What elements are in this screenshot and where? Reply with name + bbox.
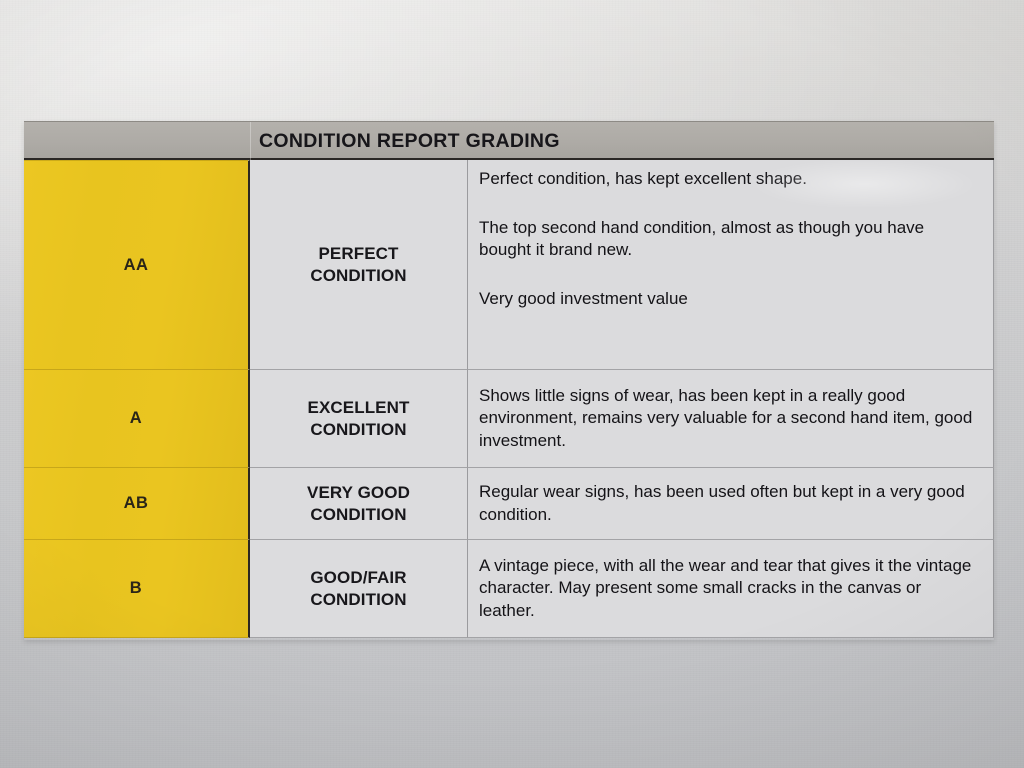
table-row: AB VERY GOOD CONDITION Regular wear sign… xyxy=(24,468,994,540)
condition-cell: VERY GOOD CONDITION xyxy=(250,468,468,540)
description-cell: Regular wear signs, has been used often … xyxy=(468,468,994,540)
description-cell: Perfect condition, has kept excellent sh… xyxy=(468,160,994,370)
grade-cell: AB xyxy=(24,468,250,540)
grade-label: AB xyxy=(124,494,149,513)
grade-label: B xyxy=(130,579,142,598)
description-paragraph: Shows little signs of wear, has been kep… xyxy=(479,385,979,453)
condition-label-line1: PERFECT xyxy=(318,244,398,263)
condition-label-line2: CONDITION xyxy=(310,266,406,285)
condition-label-line1: VERY GOOD xyxy=(307,483,410,502)
description-paragraph: Very good investment value xyxy=(479,288,979,311)
description-paragraph: The top second hand condition, almost as… xyxy=(479,217,979,262)
description-paragraph: A vintage piece, with all the wear and t… xyxy=(479,555,979,623)
condition-label: EXCELLENT CONDITION xyxy=(308,397,410,441)
table-body: AA PERFECT CONDITION Perfect condition, … xyxy=(24,160,994,638)
header-column-divider xyxy=(250,122,251,161)
condition-cell: PERFECT CONDITION xyxy=(250,160,468,370)
condition-label-line2: CONDITION xyxy=(310,420,406,439)
condition-label-line1: GOOD/FAIR xyxy=(310,568,406,587)
condition-cell: GOOD/FAIR CONDITION xyxy=(250,540,468,638)
table-row: AA PERFECT CONDITION Perfect condition, … xyxy=(24,160,994,370)
grade-cell: B xyxy=(24,540,250,638)
condition-cell: EXCELLENT CONDITION xyxy=(250,370,468,468)
condition-label: VERY GOOD CONDITION xyxy=(307,482,410,526)
description-paragraph: Regular wear signs, has been used often … xyxy=(479,481,979,526)
table-row: A EXCELLENT CONDITION Shows little signs… xyxy=(24,370,994,468)
condition-label-line2: CONDITION xyxy=(310,590,406,609)
condition-report-grading-table: CONDITION REPORT GRADING AA PERFECT COND… xyxy=(24,121,994,640)
description-cell: Shows little signs of wear, has been kep… xyxy=(468,370,994,468)
condition-label-line2: CONDITION xyxy=(310,505,406,524)
grade-cell: A xyxy=(24,370,250,468)
grade-label: A xyxy=(130,409,142,428)
grade-cell: AA xyxy=(24,160,250,370)
description-paragraph: Perfect condition, has kept excellent sh… xyxy=(479,168,979,191)
description-cell: A vintage piece, with all the wear and t… xyxy=(468,540,994,638)
table-title: CONDITION REPORT GRADING xyxy=(259,130,560,153)
grade-label: AA xyxy=(124,256,149,275)
table-row: B GOOD/FAIR CONDITION A vintage piece, w… xyxy=(24,540,994,638)
condition-label: PERFECT CONDITION xyxy=(310,243,406,287)
condition-label: GOOD/FAIR CONDITION xyxy=(310,567,406,611)
condition-label-line1: EXCELLENT xyxy=(308,398,410,417)
table-header-band: CONDITION REPORT GRADING xyxy=(24,121,994,160)
